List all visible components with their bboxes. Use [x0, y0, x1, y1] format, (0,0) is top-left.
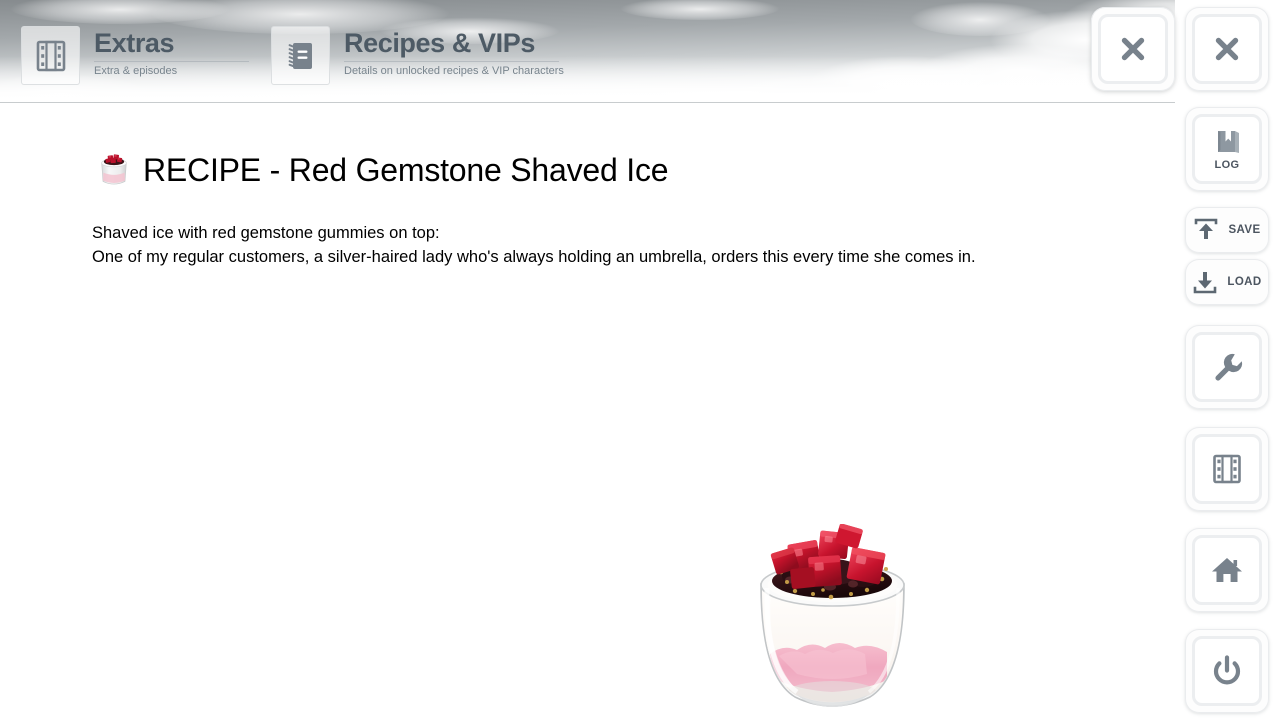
- app-root: Extras Extra & episodes: [0, 0, 1280, 720]
- close-icon: [1210, 32, 1244, 66]
- page-header: Extras Extra & episodes: [0, 0, 1280, 103]
- close-window-button[interactable]: [1091, 7, 1175, 91]
- close-icon: [1116, 32, 1150, 66]
- recipe-illustration: [735, 524, 930, 720]
- recipe-description: Shaved ice with red gemstone gummies on …: [92, 222, 1042, 269]
- recipe-description-line-2: One of my regular customers, a silver-ha…: [92, 246, 1042, 270]
- red-gemstone-shaved-ice-illustration: [735, 524, 930, 720]
- tab-recipes-subtitle: Details on unlocked recipes & VIP charac…: [344, 65, 564, 78]
- sidebar-button-home[interactable]: [1185, 528, 1269, 612]
- close-window-button-inner: [1098, 14, 1168, 84]
- sidebar-button-save-row: SAVE: [1193, 218, 1260, 242]
- sidebar-button-log-label: LOG: [1214, 159, 1239, 171]
- sidebar-button-load[interactable]: LOAD: [1185, 259, 1269, 305]
- tab-extras-subtitle: Extra & episodes: [94, 65, 249, 78]
- film-strip-icon: [34, 39, 68, 73]
- sidebar-button-config-inner: [1192, 332, 1262, 402]
- sidebar-button-save-label: SAVE: [1228, 224, 1260, 236]
- sidebar-button-extras[interactable]: [1185, 427, 1269, 511]
- sidebar-button-load-row: LOAD: [1192, 270, 1261, 294]
- film-strip-icon: [1210, 452, 1244, 486]
- sidebar-button-close-inner: [1192, 14, 1262, 84]
- sidebar-button-extras-inner: [1192, 434, 1262, 504]
- notebook-icon: [284, 39, 318, 73]
- tab-extras-text: Extras Extra & episodes: [94, 26, 249, 78]
- page-title: RECIPE - Red Gemstone Shaved Ice: [143, 152, 668, 188]
- tab-extras-icon-box: [21, 26, 80, 85]
- tab-recipes-icon-box: [271, 26, 330, 85]
- wrench-icon: [1210, 350, 1244, 384]
- sidebar-button-save[interactable]: SAVE: [1185, 207, 1269, 253]
- tab-extras-rule: [94, 61, 249, 62]
- tab-recipes-rule: [344, 61, 559, 62]
- bowl-contents: [759, 590, 906, 703]
- sidebar-button-log-inner: LOG: [1192, 114, 1262, 184]
- sidebar-button-load-label: LOAD: [1227, 276, 1261, 288]
- sidebar-button-log[interactable]: LOG: [1185, 107, 1269, 191]
- shaved-ice-dessert-icon: [92, 148, 136, 192]
- main-content: RECIPE - Red Gemstone Shaved Ice Shaved …: [0, 104, 1175, 720]
- upload-icon: [1193, 218, 1219, 242]
- sidebar-button-quit[interactable]: [1185, 629, 1269, 713]
- home-icon: [1210, 553, 1244, 587]
- tab-extras[interactable]: Extras Extra & episodes: [21, 26, 249, 86]
- download-icon: [1192, 270, 1218, 294]
- sidebar-button-close[interactable]: [1185, 7, 1269, 91]
- sidebar-button-home-inner: [1192, 535, 1262, 605]
- tab-recipes-text: Recipes & VIPs Details on unlocked recip…: [344, 26, 564, 78]
- power-icon: [1210, 654, 1244, 688]
- recipe-description-line-1: Shaved ice with red gemstone gummies on …: [92, 222, 1042, 246]
- sidebar-button-config[interactable]: [1185, 325, 1269, 409]
- tab-recipes-title: Recipes & VIPs: [344, 28, 564, 58]
- tab-recipes-and-vips[interactable]: Recipes & VIPs Details on unlocked recip…: [271, 26, 564, 86]
- sidebar-button-quit-inner: [1192, 636, 1262, 706]
- recipe-title-row: RECIPE - Red Gemstone Shaved Ice: [92, 148, 668, 192]
- right-sidebar: LOG SAVE LOAD: [1175, 0, 1280, 720]
- tab-extras-title: Extras: [94, 28, 249, 58]
- book-icon: [1211, 127, 1243, 157]
